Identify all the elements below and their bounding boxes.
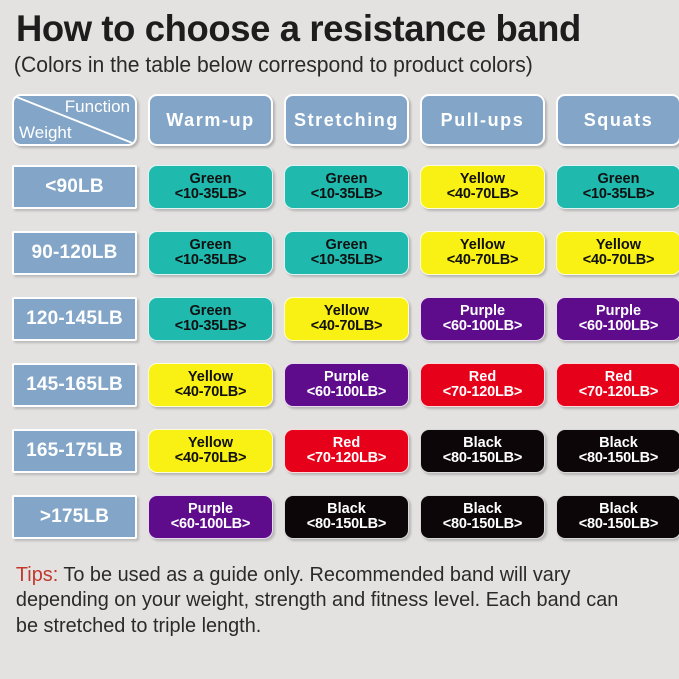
- band-name: Black: [599, 502, 638, 517]
- band-name: Green: [326, 172, 368, 187]
- column-header-warm-up: Warm-up: [148, 94, 273, 146]
- tips-note: Tips: To be used as a guide only. Recomm…: [12, 562, 647, 638]
- band-name: Purple: [188, 502, 233, 517]
- weight-label: >175LB: [12, 495, 137, 539]
- band-cell: Green <10-35LB>: [284, 231, 409, 275]
- table-row: <90LB Green <10-35LB> Green <10-35LB> Ye…: [12, 154, 667, 220]
- band-name: Green: [326, 238, 368, 253]
- band-name: Black: [463, 502, 502, 517]
- band-cell: Purple <60-100LB>: [284, 363, 409, 407]
- band-range: <80-150LB>: [579, 451, 658, 466]
- band-name: Yellow: [188, 436, 233, 451]
- band-range: <10-35LB>: [583, 187, 655, 202]
- band-name: Black: [463, 436, 502, 451]
- band-cell: Green <10-35LB>: [148, 297, 273, 341]
- weight-label: 90-120LB: [12, 231, 137, 275]
- band-cell: Black <80-150LB>: [420, 429, 545, 473]
- band-name: Yellow: [460, 238, 505, 253]
- band-range: <70-120LB>: [307, 451, 386, 466]
- band-name: Yellow: [188, 370, 233, 385]
- band-name: Green: [190, 172, 232, 187]
- band-cell: Yellow <40-70LB>: [148, 363, 273, 407]
- weight-label: <90LB: [12, 165, 137, 209]
- band-name: Green: [598, 172, 640, 187]
- band-name: Purple: [460, 304, 505, 319]
- band-range: <10-35LB>: [175, 319, 247, 334]
- band-cell: Green <10-35LB>: [148, 231, 273, 275]
- band-name: Yellow: [324, 304, 369, 319]
- band-range: <60-100LB>: [171, 517, 250, 532]
- band-range: <10-35LB>: [175, 253, 247, 268]
- band-range: <40-70LB>: [175, 451, 247, 466]
- band-range: <40-70LB>: [447, 253, 519, 268]
- table-row: 165-175LB Yellow <40-70LB> Red <70-120LB…: [12, 418, 667, 484]
- band-name: Black: [327, 502, 366, 517]
- band-name: Black: [599, 436, 638, 451]
- band-range: <40-70LB>: [175, 385, 247, 400]
- band-range: <10-35LB>: [311, 187, 383, 202]
- column-header-pull-ups: Pull-ups: [420, 94, 545, 146]
- corner-function-label: Function: [65, 98, 130, 116]
- band-range: <60-100LB>: [443, 319, 522, 334]
- corner-header-cell: Function Weight: [12, 94, 137, 146]
- band-name: Red: [333, 436, 360, 451]
- band-name: Yellow: [460, 172, 505, 187]
- column-header-squats: Squats: [556, 94, 679, 146]
- page-subtitle: (Colors in the table below correspond to…: [12, 49, 641, 77]
- table-row: 120-145LB Green <10-35LB> Yellow <40-70L…: [12, 286, 667, 352]
- table-header-row: Function Weight Warm-up Stretching Pull-…: [12, 86, 667, 154]
- band-name: Purple: [596, 304, 641, 319]
- band-cell: Yellow <40-70LB>: [420, 165, 545, 209]
- band-name: Red: [605, 370, 632, 385]
- weight-label: 120-145LB: [12, 297, 137, 341]
- band-cell: Yellow <40-70LB>: [284, 297, 409, 341]
- band-name: Green: [190, 238, 232, 253]
- table-row: >175LB Purple <60-100LB> Black <80-150LB…: [12, 484, 667, 550]
- band-cell: Green <10-35LB>: [556, 165, 679, 209]
- tips-text: To be used as a guide only. Recommended …: [16, 563, 618, 636]
- band-cell: Black <80-150LB>: [556, 429, 679, 473]
- band-range: <40-70LB>: [447, 187, 519, 202]
- band-cell: Red <70-120LB>: [420, 363, 545, 407]
- band-range: <80-150LB>: [307, 517, 386, 532]
- band-range: <70-120LB>: [579, 385, 658, 400]
- band-cell: Red <70-120LB>: [556, 363, 679, 407]
- column-header-stretching: Stretching: [284, 94, 409, 146]
- weight-label: 165-175LB: [12, 429, 137, 473]
- band-cell: Green <10-35LB>: [284, 165, 409, 209]
- table-row: 145-165LB Yellow <40-70LB> Purple <60-10…: [12, 352, 667, 418]
- band-cell: Black <80-150LB>: [420, 495, 545, 539]
- band-cell: Red <70-120LB>: [284, 429, 409, 473]
- band-name: Purple: [324, 370, 369, 385]
- band-name: Green: [190, 304, 232, 319]
- band-name: Red: [469, 370, 496, 385]
- table-row: 90-120LB Green <10-35LB> Green <10-35LB>…: [12, 220, 667, 286]
- resistance-band-chart: How to choose a resistance band (Colors …: [0, 0, 679, 679]
- band-range: <40-70LB>: [311, 319, 383, 334]
- band-cell: Purple <60-100LB>: [420, 297, 545, 341]
- band-range: <40-70LB>: [583, 253, 655, 268]
- band-cell: Yellow <40-70LB>: [420, 231, 545, 275]
- band-cell: Purple <60-100LB>: [148, 495, 273, 539]
- band-cell: Purple <60-100LB>: [556, 297, 679, 341]
- tips-label: Tips:: [16, 563, 58, 586]
- band-cell: Yellow <40-70LB>: [556, 231, 679, 275]
- band-cell: Black <80-150LB>: [284, 495, 409, 539]
- band-range: <60-100LB>: [579, 319, 658, 334]
- corner-weight-label: Weight: [19, 124, 72, 142]
- band-range: <10-35LB>: [311, 253, 383, 268]
- band-cell: Green <10-35LB>: [148, 165, 273, 209]
- band-range: <80-150LB>: [579, 517, 658, 532]
- weight-label: 145-165LB: [12, 363, 137, 407]
- band-name: Yellow: [596, 238, 641, 253]
- band-selection-table: Function Weight Warm-up Stretching Pull-…: [12, 86, 667, 550]
- band-cell: Yellow <40-70LB>: [148, 429, 273, 473]
- band-range: <10-35LB>: [175, 187, 247, 202]
- band-range: <60-100LB>: [307, 385, 386, 400]
- band-cell: Black <80-150LB>: [556, 495, 679, 539]
- page-title: How to choose a resistance band: [12, 0, 657, 49]
- band-range: <80-150LB>: [443, 517, 522, 532]
- band-range: <70-120LB>: [443, 385, 522, 400]
- band-range: <80-150LB>: [443, 451, 522, 466]
